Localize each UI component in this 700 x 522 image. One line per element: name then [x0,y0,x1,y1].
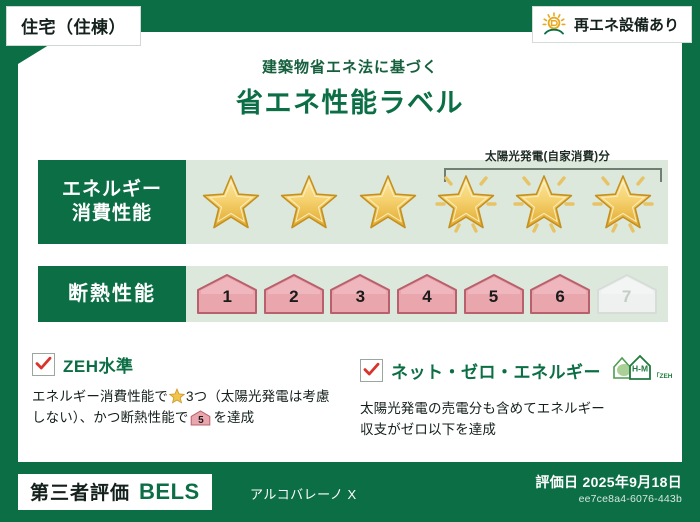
insulation-level-2: 2 [263,273,325,315]
page-title: 省エネ性能ラベル [0,81,700,120]
insulation-level-5: 5 [463,273,525,315]
insulation-level-number: 5 [463,287,525,307]
insulation-level-number: 2 [263,287,325,307]
insulation-level-number: 4 [396,287,458,307]
insulation-level-7: 7 [596,273,658,315]
zeh-m-logo: H-M 「ZEH-M」 [610,352,672,389]
label-heading: 建築物省エネ法に基づく 省エネ性能ラベル [0,56,700,120]
claim-zeh-standard: ZEH水準 エネルギー消費性能で3つ（太陽光発電は考慮しない）、かつ断熱性能で5… [32,352,342,429]
zeh-logo-text: H-M [632,364,648,374]
star-sparkle-icon [512,170,576,234]
star-3 [356,170,420,234]
bels-label: BELS [139,479,200,505]
insulation-level-4: 4 [396,273,458,315]
insulation-level-number: 7 [596,287,658,307]
insulation-level-number: 6 [529,287,591,307]
insulation-level-number: 3 [329,287,391,307]
insulation-level-1: 1 [196,273,258,315]
insulation-performance-row: 断熱性能 1234567 [38,266,668,322]
building-type-tab: 住宅（住棟） [6,6,141,46]
claim-zeh-title: ZEH水準 [63,352,134,377]
zeh-logo-caption: 「ZEH-M」 [653,371,672,380]
insulation-level-3: 3 [329,273,391,315]
claim-zeh-body: エネルギー消費性能で3つ（太陽光発電は考慮しない）、かつ断熱性能で5を達成 [32,386,342,429]
checkbox-zeh-standard [32,353,55,376]
star-sparkle-icon [434,170,498,234]
evaluation-date: 評価日 2025年9月18日 [535,472,682,492]
renewable-equipment-badge: 再エネ設備あり [532,6,692,43]
energy-performance-label: 住宅（住棟） 再エネ設備あり 建築物省エネ法に基づく [0,0,700,522]
energy-performance-label: エネルギー 消費性能 [38,160,186,244]
claim-nze-line1: 太陽光発電の売電分も含めてエネルギー [360,398,678,419]
claim-zeh-header: ZEH水準 [32,352,342,377]
claim-nze-title: ネット・ゼロ・エネルギー [391,358,601,383]
bels-certification-box: 第三者評価 BELS [18,474,212,510]
claim-zeh-text4: を達成 [213,410,254,425]
star-6 [591,170,655,234]
star-1 [199,170,263,234]
claim-zeh-text2: 3つ（太陽光発電 [186,389,289,404]
claim-zeh-text1: エネルギー消費性能で [32,389,168,404]
claim-nze-body: 太陽光発電の売電分も含めてエネルギー 収支がゼロ以下を達成 [360,398,678,441]
star-rating [186,160,668,244]
heading-subtitle: 建築物省エネ法に基づく [0,56,700,77]
insulation-rating-panel: 1234567 [186,266,668,322]
inline-house-icon: 5 [190,410,211,426]
inline-house-number: 5 [190,413,211,429]
claim-nze-header: ネット・ゼロ・エネルギー H-M 「ZEH-M」 [360,352,678,389]
inline-star-icon [169,388,185,404]
insulation-level-6: 6 [529,273,591,315]
checkbox-net-zero-energy [360,359,383,382]
energy-label-line1: エネルギー [62,178,162,202]
claim-net-zero-energy: ネット・ゼロ・エネルギー H-M 「ZEH-M」 太陽光発電の売電分も含めてエネ… [360,352,678,441]
label-footer: 第三者評価 BELS アルコバレーノ X 評価日 2025年9月18日 ee7c… [0,462,700,522]
renewable-badge-label: 再エネ設備あり [574,14,679,35]
sun-icon [541,12,567,36]
evaluation-id: ee7ce8a4-6076-443b [579,493,682,505]
star-5 [512,170,576,234]
insulation-level-scale: 1234567 [186,266,668,322]
building-name: アルコバレーノ X [250,484,357,503]
insulation-level-number: 1 [196,287,258,307]
insulation-performance-label: 断熱性能 [38,266,186,322]
energy-label-line2: 消費性能 [62,202,162,226]
third-party-label: 第三者評価 [30,478,130,505]
star-sparkle-icon [591,170,655,234]
claim-nze-line2: 収支がゼロ以下を達成 [360,419,678,440]
energy-performance-row: エネルギー 消費性能 太陽光発電(自家消費)分 [38,160,668,244]
energy-rating-panel: 太陽光発電(自家消費)分 [186,160,668,244]
star-2 [277,170,341,234]
star-4 [434,170,498,234]
